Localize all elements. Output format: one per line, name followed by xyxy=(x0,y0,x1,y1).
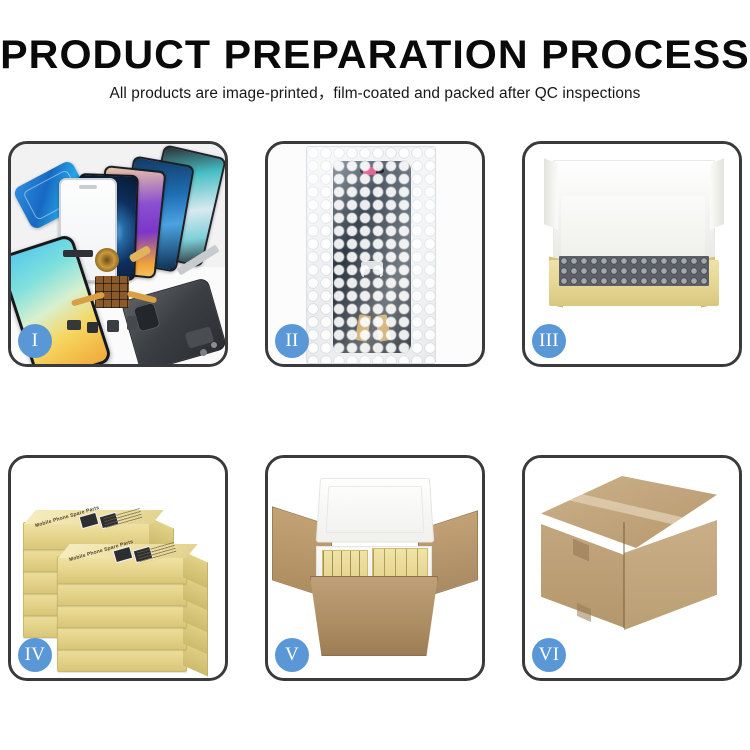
step-badge-2: II xyxy=(275,324,309,358)
small-component-2 xyxy=(87,322,98,333)
step-badge-4: IV xyxy=(18,638,52,672)
step-badge-3: III xyxy=(532,324,566,358)
small-component-3 xyxy=(107,320,119,332)
foam-lid-open xyxy=(316,478,435,543)
step-panel-5: V xyxy=(265,455,485,681)
screw-1 xyxy=(200,349,207,356)
box-stack: Mobile Phone Spare Parts Mobile Phone Sp… xyxy=(17,472,219,668)
white-foam-sheet xyxy=(561,196,705,262)
step-panel-6: VI xyxy=(522,455,742,681)
page-title: PRODUCT PREPARATION PROCESS xyxy=(0,33,750,77)
step-panel-3: III xyxy=(522,141,742,367)
carton-front-edge xyxy=(623,522,625,628)
small-component-1 xyxy=(67,320,81,330)
step-panel-2: II xyxy=(265,141,485,367)
speaker-bar-component xyxy=(63,250,93,257)
step-panel-1: I xyxy=(8,141,228,367)
bubble-wrapped-contents xyxy=(559,256,709,286)
small-component-4 xyxy=(127,316,137,330)
bubble-wrap-bag xyxy=(306,146,436,364)
step-badge-1: I xyxy=(18,324,52,358)
step-badge-5: V xyxy=(275,638,309,672)
screw-2 xyxy=(211,342,217,348)
page-header: PRODUCT PREPARATION PROCESS All products… xyxy=(0,0,750,130)
page-subtitle: All products are image-printed，film-coat… xyxy=(0,84,750,104)
step-badge-6: VI xyxy=(532,638,566,672)
carton-body xyxy=(310,576,438,656)
step-panel-4: Mobile Phone Spare Parts Mobile Phone Sp… xyxy=(8,455,228,681)
coil-component xyxy=(95,248,119,272)
plastic-sheen xyxy=(307,147,435,363)
stacked-box-top-front: Mobile Phone Spare Parts xyxy=(57,556,187,584)
